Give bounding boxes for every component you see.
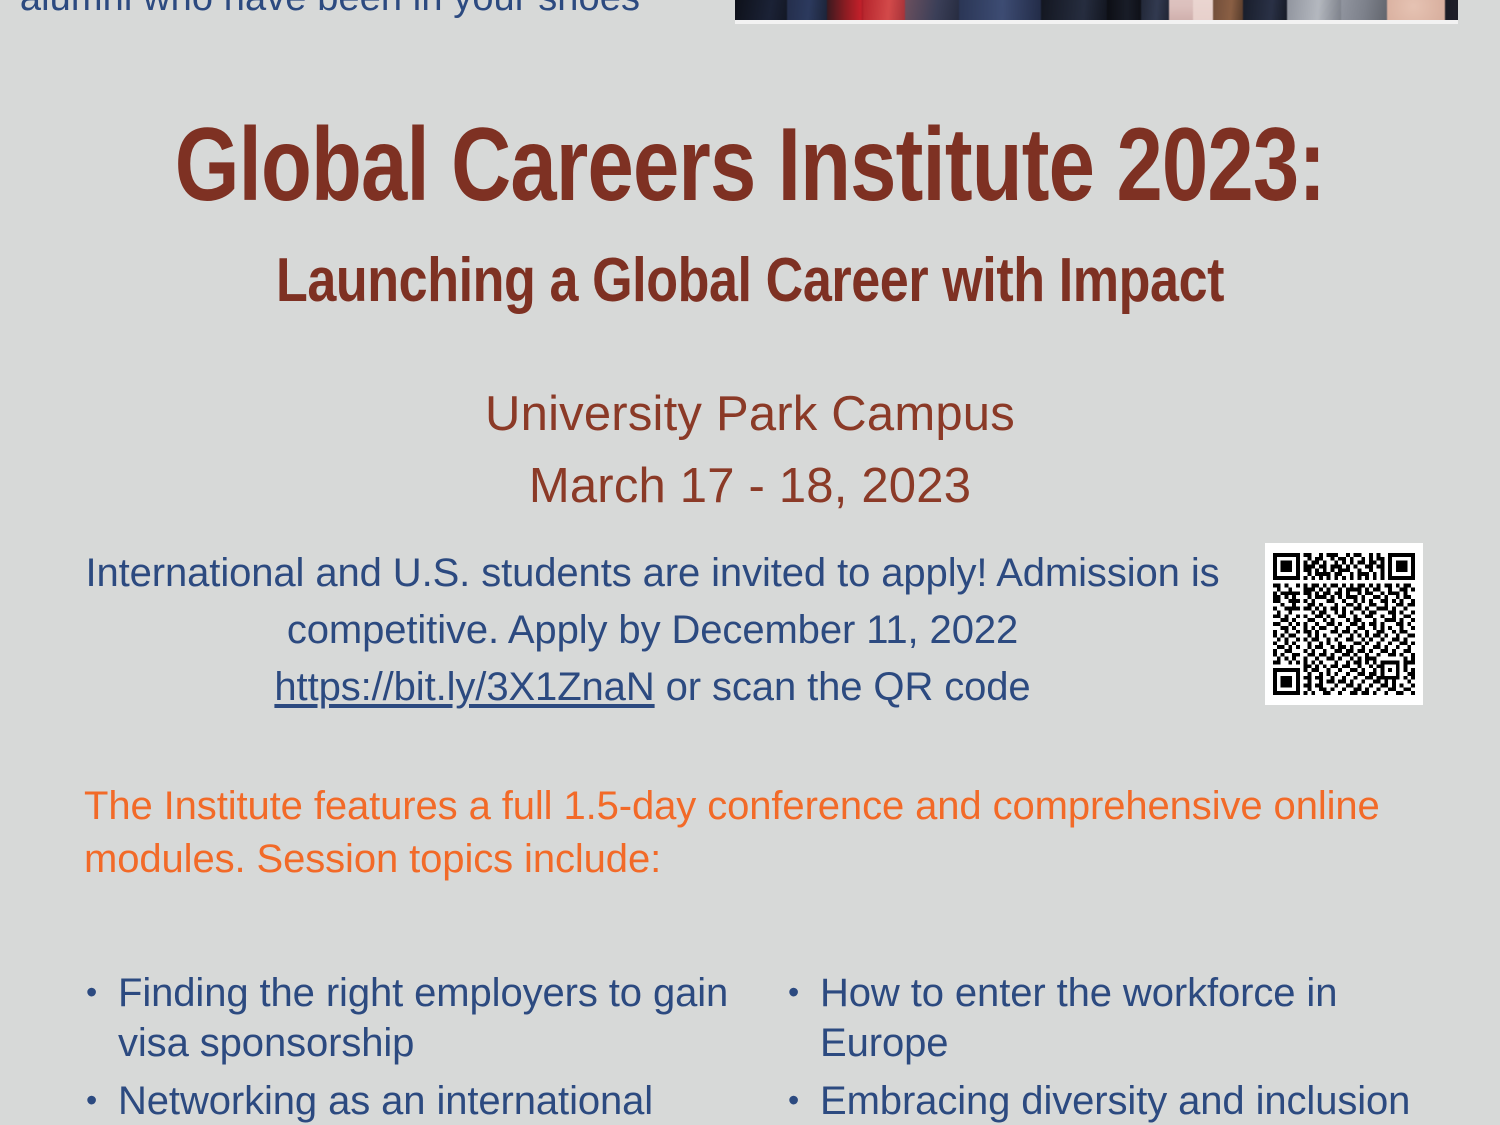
- list-item: Networking as an international: [118, 1076, 730, 1125]
- invitation-paragraph: International and U.S. students are invi…: [60, 545, 1245, 716]
- features-paragraph: The Institute features a full 1.5-day co…: [84, 780, 1404, 886]
- photo-band: [1387, 0, 1453, 20]
- photo-band: [905, 0, 965, 20]
- photo-band: [1445, 0, 1458, 20]
- bullet-list: Finding the right employers to gain visa…: [70, 968, 730, 1125]
- list-item: How to enter the workforce in Europe: [820, 968, 1432, 1068]
- photo-divider: [735, 20, 1458, 24]
- session-topics: Finding the right employers to gain visa…: [70, 968, 1470, 1125]
- photo-band: [1243, 0, 1291, 20]
- list-item: Embracing diversity and inclusion: [820, 1076, 1432, 1125]
- venue-campus: University Park Campus: [0, 378, 1500, 450]
- photo-band: [1287, 0, 1345, 20]
- application-qr-code[interactable]: [1265, 543, 1423, 705]
- invite-line-2: competitive. Apply by December 11, 2022: [60, 602, 1245, 659]
- list-item: Finding the right employers to gain visa…: [118, 968, 730, 1068]
- application-link[interactable]: https://bit.ly/3X1ZnaN: [274, 665, 654, 709]
- poster-canvas: alumni who have been in your shoes Globa…: [0, 0, 1500, 1125]
- venue-block: University Park Campus March 17 - 18, 20…: [0, 378, 1500, 522]
- conference-photo-strip: [735, 0, 1458, 20]
- page-subtitle: Launching a Global Career with Impact: [120, 248, 1380, 314]
- photo-band: [863, 0, 911, 20]
- photo-band: [1041, 0, 1113, 20]
- photo-band: [1341, 0, 1393, 20]
- top-cutoff-text: alumni who have been in your shoes: [0, 0, 660, 20]
- invite-line-3: https://bit.ly/3X1ZnaN or scan the QR co…: [60, 659, 1245, 716]
- invite-qr-hint: or scan the QR code: [655, 665, 1031, 709]
- photo-band: [1213, 0, 1247, 20]
- photo-band: [735, 0, 795, 20]
- session-topics-left-column: Finding the right employers to gain visa…: [70, 968, 730, 1125]
- page-title: Global Careers Institute 2023:: [150, 113, 1350, 217]
- qr-code-icon: [1273, 552, 1415, 696]
- invite-line-1: International and U.S. students are invi…: [60, 545, 1245, 602]
- session-topics-right-column: How to enter the workforce in Europe Emb…: [772, 968, 1432, 1125]
- venue-dates: March 17 - 18, 2023: [0, 450, 1500, 522]
- photo-band: [959, 0, 1047, 20]
- bullet-list: How to enter the workforce in Europe Emb…: [772, 968, 1432, 1125]
